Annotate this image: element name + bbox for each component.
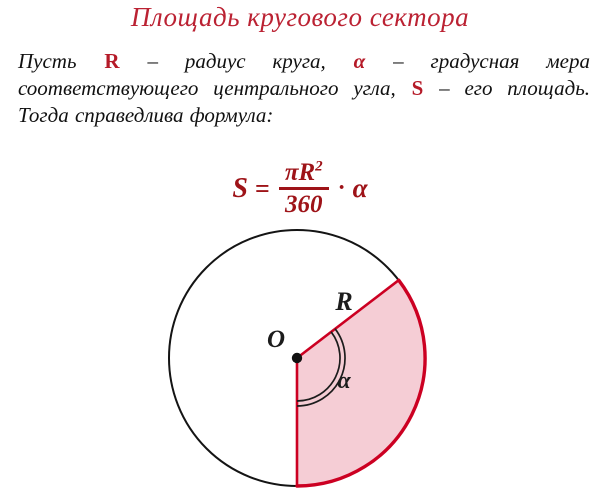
label-radius-R: R: [334, 287, 352, 316]
label-angle-alpha: α: [337, 368, 351, 394]
sector-fill: [297, 280, 425, 486]
label-center-O: O: [267, 326, 285, 353]
center-point: [292, 353, 302, 363]
circle-sector-diagram: O R α: [0, 0, 600, 495]
